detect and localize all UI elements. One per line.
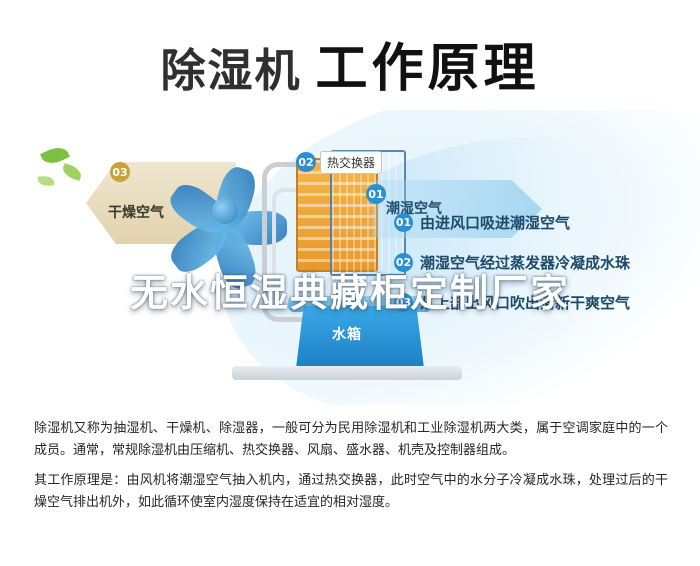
- body-paragraph-2: 其工作原理是：由风机将潮湿空气抽入机内，通过热交换器，此时空气中的水分子冷凝成水…: [34, 470, 668, 514]
- step-number: 02: [394, 253, 413, 272]
- marker-01: 01: [366, 184, 386, 204]
- body-paragraph-1: 除湿机又称为抽湿机、干燥机、除湿器，一般可分为民用除湿机和工业除湿机两大类，属于…: [34, 418, 668, 462]
- marker-02: 02: [296, 152, 316, 172]
- diagram-illustration: 干燥空气 03 01 潮湿空气 02 热交换器 水箱: [0, 110, 700, 405]
- diagram-step-3: 03从上部出风口吹出清新干爽空气: [394, 292, 630, 313]
- dry-air-label: 干燥空气: [108, 202, 164, 222]
- poster-root: 除湿机工作原理 干燥空气 03 01: [0, 0, 700, 566]
- diagram-step-2: 02潮湿空气经过蒸发器冷凝成水珠: [394, 252, 630, 273]
- marker-03-left: 03: [110, 162, 130, 182]
- leaf-icon: [61, 163, 84, 181]
- diagram-step-1: 01由进风口吸进潮湿空气: [394, 212, 570, 233]
- page-title: 除湿机工作原理: [0, 26, 700, 101]
- body-copy: 除湿机又称为抽湿机、干燥机、除湿器，一般可分为民用除湿机和工业除湿机两大类，属于…: [34, 418, 668, 524]
- unit-base: [232, 366, 462, 380]
- leaf-icon: [38, 175, 55, 186]
- page-title-part1: 除湿机: [160, 44, 301, 97]
- step-number: 03: [394, 293, 413, 312]
- page-title-part2: 工作原理: [316, 39, 540, 99]
- step-text: 从上部出风口吹出清新干爽空气: [420, 294, 630, 312]
- heat-exchanger-label: 热交换器: [320, 151, 382, 174]
- step-text: 潮湿空气经过蒸发器冷凝成水珠: [420, 254, 630, 272]
- water-tank-label: 水箱: [332, 324, 362, 344]
- step-number: 01: [394, 213, 413, 232]
- step-text: 由进风口吸进潮湿空气: [420, 214, 570, 232]
